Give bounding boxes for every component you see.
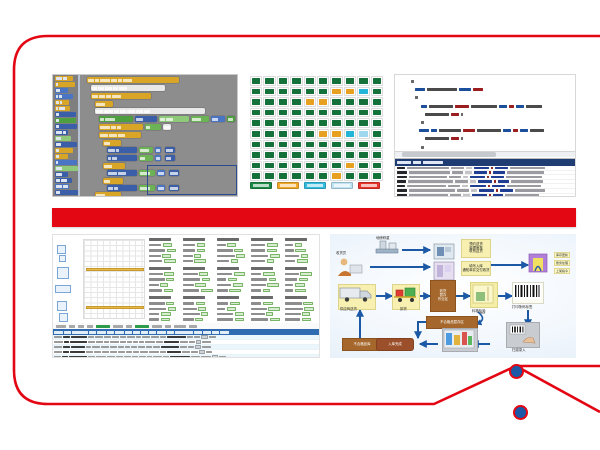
code-line	[403, 79, 572, 84]
slot-cell[interactable]	[357, 150, 369, 160]
code-block[interactable]	[135, 116, 157, 122]
sheet-text-row	[285, 307, 320, 311]
slot-cell[interactable]	[290, 140, 302, 150]
slot-cell[interactable]	[317, 87, 329, 97]
slot-cell[interactable]	[357, 171, 369, 181]
slot-cell[interactable]	[277, 108, 289, 118]
slot-cell[interactable]	[330, 76, 342, 86]
slot-cell[interactable]	[290, 97, 302, 107]
console-log-row[interactable]	[395, 194, 575, 197]
palette-block[interactable]	[55, 112, 76, 117]
code-line	[403, 95, 572, 100]
slot-cell[interactable]	[263, 76, 275, 86]
slot-cell[interactable]	[263, 140, 275, 150]
flow-node-barcode-print	[512, 282, 544, 304]
code-line	[403, 120, 572, 125]
slot-cell[interactable]	[250, 171, 262, 181]
code-block[interactable]	[95, 192, 121, 197]
slot-cell[interactable]	[330, 171, 342, 181]
sheet-text-row	[285, 259, 320, 263]
slot-cell[interactable]	[304, 140, 316, 150]
slot-cell[interactable]	[344, 171, 356, 181]
top-screenshot-row	[52, 74, 576, 202]
palette-block[interactable]	[55, 94, 73, 99]
slot-cell[interactable]	[317, 76, 329, 86]
flow-label-weighbridge: 地磅称重	[376, 235, 390, 240]
flow-node-done: 入库完成	[376, 338, 414, 351]
sheet-text-column	[285, 238, 320, 326]
slot-cell[interactable]	[344, 129, 356, 139]
slot-cell[interactable]	[277, 129, 289, 139]
sheet-text-row	[285, 288, 320, 292]
flow-node-inbound-order: 填写入库 通知单并交付收货	[461, 261, 491, 276]
blocks-canvas[interactable]	[83, 75, 237, 196]
inspection-box-icon	[471, 283, 495, 305]
slot-cell[interactable]	[357, 97, 369, 107]
slot-cell[interactable]	[263, 150, 275, 160]
slot-cell[interactable]	[277, 76, 289, 86]
palette-block[interactable]	[55, 82, 75, 87]
slot-cell[interactable]	[263, 97, 275, 107]
slot-cell[interactable]	[317, 118, 329, 128]
code-block[interactable]	[107, 185, 137, 191]
console-title-bar	[395, 159, 575, 166]
code-block[interactable]	[211, 116, 225, 122]
flow-node-archive	[528, 252, 550, 276]
palette-block[interactable]	[55, 172, 68, 177]
slot-cell[interactable]	[357, 87, 369, 97]
slot-cell[interactable]	[344, 118, 356, 128]
legend-chip-reserved	[277, 182, 299, 189]
flow-node-scan-in	[506, 322, 540, 348]
flow-tag-right-1: 库存更新	[554, 252, 570, 258]
palette-block[interactable]	[55, 184, 69, 189]
slot-cell[interactable]	[304, 161, 316, 171]
slot-cell[interactable]	[371, 76, 383, 86]
slot-cell[interactable]	[317, 108, 329, 118]
code-editor-panel[interactable]	[394, 74, 576, 197]
slot-cell[interactable]	[330, 140, 342, 150]
sheet-text-row	[285, 278, 320, 282]
slot-cell[interactable]	[357, 76, 369, 86]
logistics-flow-diagram: 收货员 地磅称重	[330, 234, 576, 358]
person-icon	[334, 256, 364, 278]
sheet-marker	[59, 255, 66, 262]
flow-node-weighbridge	[374, 238, 402, 258]
slot-cell[interactable]	[277, 171, 289, 181]
code-block[interactable]	[145, 124, 161, 130]
palette-block[interactable]	[55, 196, 70, 197]
spreadsheet-panel[interactable]	[52, 234, 320, 358]
flow-node-shelving	[442, 328, 478, 352]
flow-label-barcode-print: 打印条码标签	[512, 304, 532, 309]
slot-cell[interactable]	[250, 150, 262, 160]
sheet-text-row	[285, 248, 320, 252]
accent-dot-upper	[509, 364, 524, 379]
sheet-text-row	[285, 272, 320, 276]
palette-block[interactable]	[55, 118, 76, 123]
palette-block[interactable]	[55, 88, 68, 93]
code-block[interactable]	[139, 155, 153, 161]
code-block[interactable]	[227, 116, 235, 122]
code-block[interactable]	[107, 170, 137, 176]
slot-cell[interactable]	[330, 118, 342, 128]
flow-node-qc-check	[470, 282, 498, 308]
slot-cell[interactable]	[250, 161, 262, 171]
slot-cell[interactable]	[330, 108, 342, 118]
code-line	[403, 145, 572, 150]
code-line	[403, 112, 572, 117]
truck-icon	[339, 285, 373, 303]
data-grid-body[interactable]	[53, 335, 319, 358]
palette-block[interactable]	[55, 124, 77, 129]
gantt-bar[interactable]	[86, 306, 144, 309]
code-block[interactable]	[95, 101, 113, 107]
flow-node-operator	[334, 256, 366, 280]
flow-label-unload: 卸货	[400, 306, 407, 311]
content-area: 收货员 地磅称重	[44, 62, 574, 362]
slot-cell[interactable]	[330, 161, 342, 171]
code-block[interactable]	[165, 147, 175, 153]
slot-cell[interactable]	[277, 140, 289, 150]
slot-cell[interactable]	[250, 140, 262, 150]
slot-cell[interactable]	[317, 140, 329, 150]
slot-cell[interactable]	[371, 161, 383, 171]
slot-cell[interactable]	[371, 118, 383, 128]
slot-cell[interactable]	[304, 118, 316, 128]
flow-node-receive-desk: 预约送货 单据审核 联系送货	[461, 239, 491, 258]
slot-grid-legend	[250, 182, 380, 189]
code-text-area[interactable]	[395, 75, 575, 151]
legend-chip-available	[250, 182, 272, 189]
slot-cell[interactable]	[277, 150, 289, 160]
slot-cell[interactable]	[344, 97, 356, 107]
slot-cell[interactable]	[357, 129, 369, 139]
slot-cell[interactable]	[290, 108, 302, 118]
slot-cell[interactable]	[317, 129, 329, 139]
sheet-marker	[57, 301, 67, 311]
slot-cell[interactable]	[357, 108, 369, 118]
slot-cell[interactable]	[357, 161, 369, 171]
slot-cell[interactable]	[371, 129, 383, 139]
block-selection-outline	[147, 165, 237, 195]
slot-cell[interactable]	[344, 161, 356, 171]
sheet-text-row	[285, 283, 320, 287]
slot-cell[interactable]	[371, 150, 383, 160]
slot-cell[interactable]	[330, 97, 342, 107]
flow-node-sys-entry	[432, 242, 458, 284]
sheet-text-row	[285, 318, 320, 322]
slot-cell[interactable]	[344, 150, 356, 160]
code-block[interactable]	[139, 147, 153, 153]
slot-cell[interactable]	[304, 129, 316, 139]
code-block[interactable]	[99, 132, 141, 138]
screenshot-stage: 收货员 地磅称重	[0, 0, 600, 450]
slot-cell[interactable]	[304, 87, 316, 97]
barcode-icon	[513, 283, 541, 299]
code-block[interactable]	[165, 155, 175, 161]
slot-cell[interactable]	[277, 118, 289, 128]
weighbridge-icon	[374, 238, 400, 256]
code-block[interactable]	[107, 155, 137, 161]
code-block[interactable]	[91, 85, 165, 91]
slot-cell[interactable]	[317, 150, 329, 160]
flow-tag-right-3: 上架指令	[554, 268, 570, 274]
slot-cell[interactable]	[357, 118, 369, 128]
code-block[interactable]	[163, 124, 171, 130]
code-line	[403, 104, 572, 109]
flow-label-scan-in: 扫描录入	[512, 347, 526, 352]
slot-cell[interactable]	[344, 140, 356, 150]
code-block[interactable]	[103, 163, 125, 169]
slot-grid-panel[interactable]	[248, 74, 384, 197]
flow-node-inspect-area: 收货 暂存 作业区	[430, 280, 456, 312]
console-log-rows[interactable]	[395, 166, 575, 197]
legend-chip-blocked	[358, 182, 380, 189]
palette-block[interactable]	[55, 160, 77, 165]
flow-label-operator: 收货员	[336, 250, 346, 255]
slot-cell[interactable]	[250, 76, 262, 86]
sheet-marker	[59, 313, 68, 322]
slot-cell[interactable]	[263, 118, 275, 128]
code-block[interactable]	[91, 93, 151, 99]
slot-cell[interactable]	[290, 76, 302, 86]
bottom-screenshot-row: 收货员 地磅称重	[52, 234, 576, 358]
shelving-icon	[443, 329, 475, 349]
sheet-marker	[55, 285, 71, 293]
sheet-marker	[57, 267, 69, 279]
slot-cell[interactable]	[330, 87, 342, 97]
slot-cell[interactable]	[371, 87, 383, 97]
slot-cell[interactable]	[250, 129, 262, 139]
slot-cell[interactable]	[277, 161, 289, 171]
spreadsheet-text-blocks	[149, 238, 317, 319]
blocks-palette[interactable]	[53, 75, 80, 196]
slot-cell[interactable]	[304, 150, 316, 160]
accent-dot-lower	[513, 405, 528, 420]
slot-cell[interactable]	[263, 171, 275, 181]
palette-block[interactable]	[55, 148, 73, 153]
palette-block[interactable]	[55, 76, 73, 81]
slot-cell[interactable]	[371, 140, 383, 150]
table-row[interactable]	[53, 355, 319, 358]
data-grid[interactable]	[53, 323, 319, 357]
slot-cell[interactable]	[290, 161, 302, 171]
legend-chip-pending	[331, 182, 353, 189]
palette-block[interactable]	[55, 154, 68, 159]
code-block[interactable]	[103, 140, 121, 146]
forklift-icon	[393, 285, 419, 303]
slot-cell[interactable]	[317, 161, 329, 171]
palette-block[interactable]	[55, 178, 72, 183]
slot-cell[interactable]	[371, 97, 383, 107]
code-block[interactable]	[159, 116, 189, 122]
slot-cell[interactable]	[304, 108, 316, 118]
code-block[interactable]	[155, 155, 161, 161]
gantt-bar[interactable]	[86, 268, 144, 271]
output-console[interactable]	[395, 158, 575, 196]
code-line	[403, 87, 572, 92]
slot-cell[interactable]	[250, 118, 262, 128]
slot-cell[interactable]	[290, 87, 302, 97]
slot-cell[interactable]	[277, 97, 289, 107]
sheet-text-row	[285, 254, 320, 258]
spreadsheet-cell-grid[interactable]	[83, 239, 145, 319]
spreadsheet-upper[interactable]	[53, 235, 319, 321]
blocks-editor-panel[interactable]	[52, 74, 238, 197]
slot-cell[interactable]	[290, 118, 302, 128]
archive-icon	[528, 252, 548, 274]
flow-annotation-ng: NG	[480, 311, 485, 315]
slot-cell[interactable]	[317, 171, 329, 181]
red-divider-bar	[52, 208, 576, 227]
slot-cell[interactable]	[304, 171, 316, 181]
slot-cell[interactable]	[330, 129, 342, 139]
code-block[interactable]	[99, 116, 133, 122]
flow-label-supplier-truck: 供应商送货	[340, 306, 357, 311]
code-block[interactable]	[107, 147, 137, 153]
slot-cell[interactable]	[277, 87, 289, 97]
slot-cell[interactable]	[304, 76, 316, 86]
code-horizontal-scrollbar[interactable]	[395, 151, 575, 157]
slot-cell[interactable]	[317, 97, 329, 107]
legend-chip-in-transit	[304, 182, 326, 189]
slot-cell[interactable]	[344, 87, 356, 97]
sheet-text-row	[285, 301, 320, 305]
slot-cell[interactable]	[250, 108, 262, 118]
code-line	[403, 128, 572, 133]
slot-cell[interactable]	[357, 140, 369, 150]
slot-cell[interactable]	[330, 150, 342, 160]
slot-cell[interactable]	[250, 97, 262, 107]
sheet-text-row	[285, 312, 320, 316]
palette-block[interactable]	[55, 130, 68, 135]
slot-cell[interactable]	[290, 129, 302, 139]
slot-cell[interactable]	[344, 108, 356, 118]
code-block[interactable]	[95, 108, 205, 114]
code-block[interactable]	[103, 178, 123, 184]
slot-cell[interactable]	[263, 108, 275, 118]
spreadsheet-row-rail	[55, 239, 81, 319]
slot-grid[interactable]	[250, 76, 383, 181]
palette-block[interactable]	[55, 166, 78, 171]
slot-cell[interactable]	[371, 171, 383, 181]
code-block[interactable]	[191, 116, 209, 122]
flow-tag-right-2: 账务处理	[554, 260, 570, 266]
palette-block[interactable]	[55, 142, 77, 147]
code-line	[403, 136, 572, 141]
palette-block[interactable]	[55, 190, 78, 195]
sheet-text-row	[285, 243, 320, 247]
hand-scanner-icon	[507, 323, 537, 345]
slot-cell[interactable]	[263, 87, 275, 97]
slot-cell[interactable]	[344, 76, 356, 86]
desk-pc-icon	[432, 242, 456, 282]
code-block[interactable]	[155, 147, 161, 153]
slot-cell[interactable]	[290, 150, 302, 160]
slot-cell[interactable]	[371, 108, 383, 118]
code-block[interactable]	[87, 77, 179, 83]
sheet-marker	[57, 245, 66, 254]
slot-cell[interactable]	[263, 161, 275, 171]
slot-cell[interactable]	[304, 97, 316, 107]
slot-cell[interactable]	[250, 87, 262, 97]
code-block[interactable]	[99, 124, 143, 130]
palette-block[interactable]	[55, 106, 70, 111]
slot-cell[interactable]	[290, 171, 302, 181]
palette-block[interactable]	[55, 136, 71, 141]
slot-cell[interactable]	[263, 129, 275, 139]
palette-block[interactable]	[55, 100, 69, 105]
